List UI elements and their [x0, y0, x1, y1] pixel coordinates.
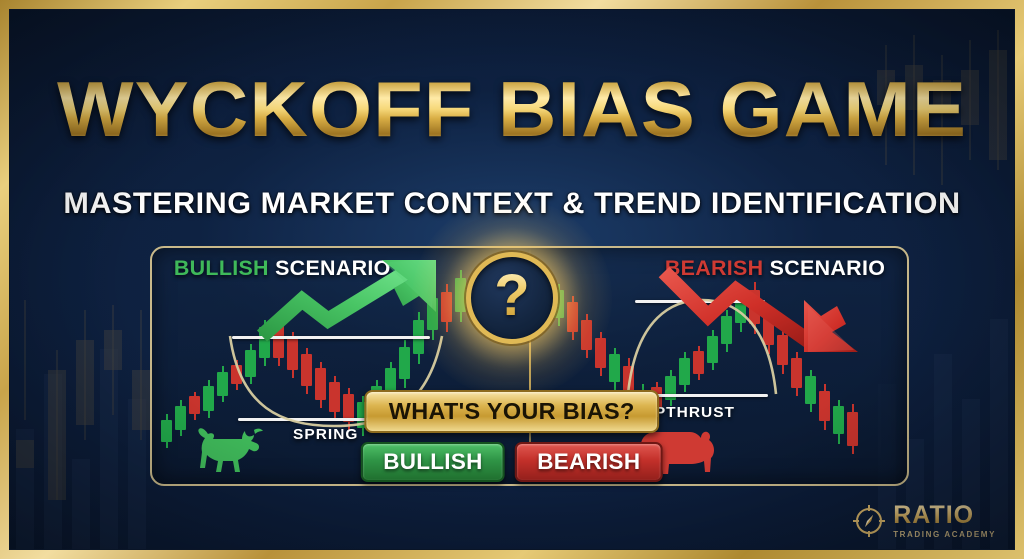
page-subtitle: MASTERING MARKET CONTEXT & TREND IDENTIF…: [9, 188, 1015, 220]
bearish-scenario-word: SCENARIO: [770, 257, 886, 280]
poster-frame: WYCKOFF BIAS GAME MASTERING MARKET CONTE…: [9, 9, 1015, 550]
bearish-keyword: BEARISH: [665, 257, 764, 280]
bullish-scenario-word: SCENARIO: [275, 257, 391, 280]
bias-question-banner: WHAT'S YOUR BIAS?: [365, 390, 660, 433]
bullish-scenario-label: BULLISH SCENARIO: [174, 257, 391, 281]
page-title: WYCKOFF BIAS GAME: [9, 70, 1015, 148]
bull-icon: [196, 426, 270, 474]
brand-logo: RATIO TRADING ACADEMY: [852, 503, 996, 539]
poster-root: WYCKOFF BIAS GAME MASTERING MARKET CONTE…: [0, 0, 1024, 559]
bullish-keyword: BULLISH: [174, 257, 269, 280]
bearish-resistance-line: [635, 300, 765, 303]
compass-icon: [852, 504, 886, 538]
bullish-button[interactable]: BULLISH: [361, 442, 505, 482]
bias-cta: WHAT'S YOUR BIAS? BULLISH BEARISH: [362, 390, 662, 482]
brand-name: RATIO: [893, 503, 996, 528]
bearish-scenario-label: BEARISH SCENARIO: [665, 257, 885, 281]
brand-tagline: TRADING ACADEMY: [893, 531, 996, 539]
bullish-resistance-line: [232, 336, 430, 339]
bullish-pattern-label: SPRING: [293, 426, 358, 443]
bias-button-row: BULLISH BEARISH: [362, 442, 662, 482]
brand-logo-text: RATIO TRADING ACADEMY: [893, 503, 996, 539]
bearish-button[interactable]: BEARISH: [515, 442, 663, 482]
